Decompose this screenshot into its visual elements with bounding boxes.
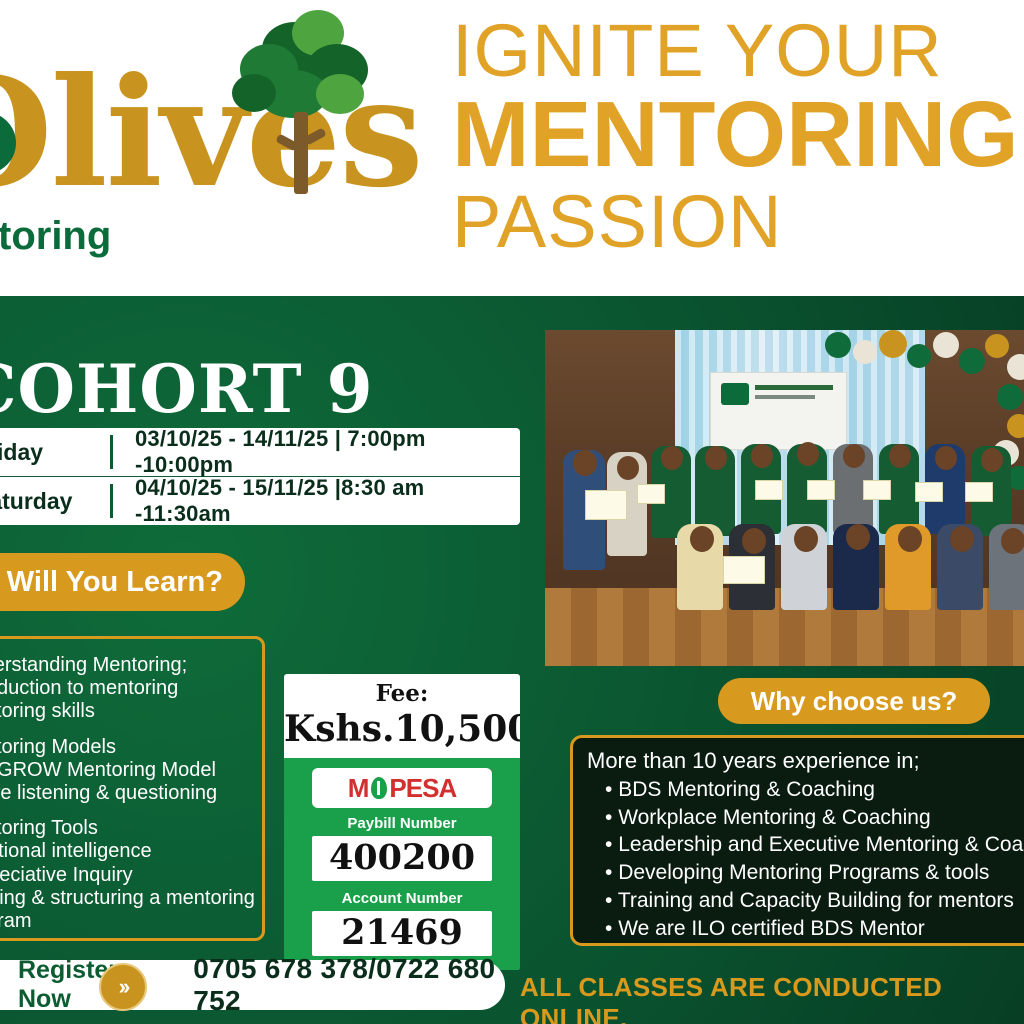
list-item: program — [0, 911, 252, 932]
mpesa-leaf-icon — [371, 777, 387, 799]
list-item: The GROW Mentoring Model — [0, 760, 252, 781]
list-item: • Workplace Mentoring & Coaching — [587, 804, 1024, 832]
list-item: • BDS Mentoring & Coaching — [587, 776, 1024, 804]
cohort-title: COHORT 9 — [0, 350, 374, 428]
headline-line-2: MENTORING — [452, 88, 1024, 181]
double-chevron-right-icon: ›› — [99, 963, 147, 1011]
learn-group: Understanding Mentoring; Introduction to… — [0, 655, 252, 723]
account-label: Account Number — [296, 890, 508, 907]
table-row: Saturday 04/10/25 - 15/11/25 |8:30 am -1… — [0, 476, 520, 525]
list-item: Introduction to mentoring — [0, 678, 252, 699]
list-item-label: Developing Mentoring Programs & tools — [618, 861, 989, 884]
paybill-number: 400200 — [312, 836, 492, 881]
schedule-details: 03/10/25 - 14/11/25 | 7:00pm -10:00pm — [113, 428, 520, 478]
list-item-label: Workplace Mentoring & Coaching — [618, 806, 930, 829]
paybill-label: Paybill Number — [296, 815, 508, 832]
schedule-day: Saturday — [0, 488, 110, 515]
payment-panel: M PESA Paybill Number 400200 Account Num… — [284, 758, 520, 970]
headline-line-3: PASSION — [452, 185, 1024, 259]
schedule-day: Friday — [0, 439, 110, 466]
list-item-label: Leadership and Executive Mentoring & Coa… — [618, 833, 1024, 856]
account-number: 21469 — [312, 911, 492, 956]
learn-group: Mentoring Models The GROW Mentoring Mode… — [0, 737, 252, 805]
mpesa-m-letter: M — [348, 773, 370, 804]
olive-tree-icon — [232, 4, 382, 194]
fee-amount: Kshs.10,500/- — [284, 707, 520, 758]
fee-card: Fee: Kshs.10,500/- M PESA Paybill Number… — [284, 674, 520, 970]
list-item: • Leadership and Executive Mentoring & C… — [587, 831, 1024, 859]
schedule-details: 04/10/25 - 15/11/25 |8:30 am -11:30am — [113, 475, 520, 525]
list-item: Mentoring Tools — [0, 818, 252, 839]
list-item: Active listening & questioning — [0, 783, 252, 804]
learn-list-box: Understanding Mentoring; Introduction to… — [0, 636, 265, 941]
header-band: Olives Mentoring IGNITE YOUR MENTORING P… — [0, 0, 1024, 296]
why-heading-pill: Why choose us? — [718, 678, 990, 724]
register-bar[interactable]: Register Now ›› 0705 678 378/0722 680 75… — [0, 960, 505, 1010]
why-intro: More than 10 years experience in; — [587, 748, 1024, 774]
mpesa-logo-icon: M PESA — [312, 768, 492, 808]
list-item: • Developing Mentoring Programs & tools — [587, 859, 1024, 887]
headline-line-1: IGNITE YOUR — [452, 16, 1024, 86]
why-list-box: More than 10 years experience in; • BDS … — [570, 735, 1024, 946]
list-item: Appreciative Inquiry — [0, 865, 252, 886]
schedule-table: Friday 03/10/25 - 14/11/25 | 7:00pm -10:… — [0, 428, 520, 525]
brand-tagline: Mentoring — [0, 214, 111, 259]
table-row: Friday 03/10/25 - 14/11/25 | 7:00pm -10:… — [0, 428, 520, 476]
list-item-label: BDS Mentoring & Coaching — [618, 778, 875, 801]
list-item-label: Training and Capacity Building for mento… — [618, 889, 1014, 912]
headline: IGNITE YOUR MENTORING PASSION — [452, 16, 1024, 259]
graduation-group-photo — [545, 330, 1024, 666]
list-item: • Training and Capacity Building for men… — [587, 887, 1024, 915]
poster-canvas: Olives Mentoring IGNITE YOUR MENTORING P… — [0, 0, 1024, 1024]
learn-heading-pill: What Will You Learn? — [0, 553, 245, 611]
list-item-label: We are ILO certified BDS Mentor — [618, 917, 925, 940]
fee-label: Fee: — [284, 674, 520, 707]
learn-heading: What Will You Learn? — [0, 566, 223, 599]
list-item: Emotional intelligence — [0, 841, 252, 862]
footer-note: ALL CLASSES ARE CONDUCTED ONLINE. — [520, 972, 1024, 1024]
why-heading: Why choose us? — [751, 686, 958, 717]
mpesa-pesa-text: PESA — [389, 773, 456, 804]
list-item: Starting & structuring a mentoring — [0, 888, 252, 909]
list-item: • We are ILO certified BDS Mentor — [587, 915, 1024, 943]
list-item: Mentoring Models — [0, 737, 252, 758]
list-item: Understanding Mentoring; — [0, 655, 252, 676]
event-banner — [710, 372, 847, 450]
learn-group: Mentoring Tools Emotional intelligence A… — [0, 818, 252, 932]
register-phone-numbers[interactable]: 0705 678 378/0722 680 752 — [157, 953, 505, 1017]
list-item: Mentoring skills — [0, 701, 252, 722]
